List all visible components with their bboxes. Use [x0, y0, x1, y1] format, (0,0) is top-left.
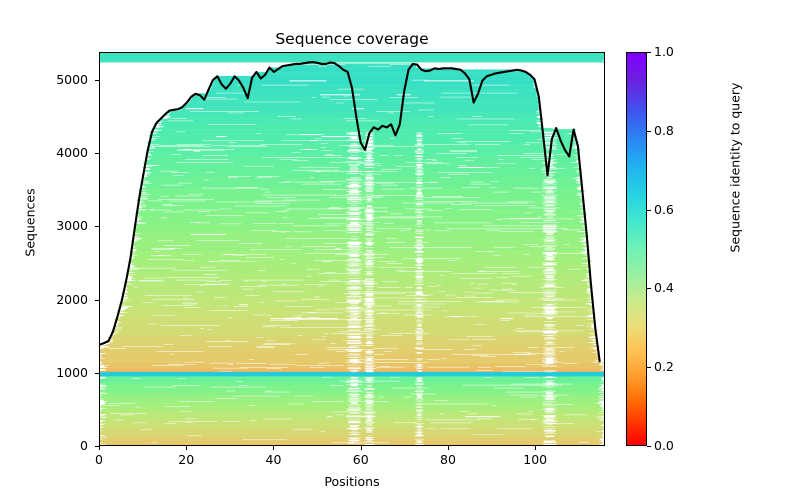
- colorbar: [626, 52, 647, 446]
- y-tick-label: 5000: [0, 72, 88, 87]
- x-tick: [448, 446, 449, 450]
- x-axis-label: Positions: [99, 474, 605, 489]
- y-tick: [95, 300, 99, 301]
- colorbar-tick-label: 0.2: [654, 359, 674, 374]
- y-tick-label: 0: [0, 438, 88, 453]
- colorbar-tick: [647, 367, 651, 368]
- y-tick-label: 1000: [0, 365, 88, 380]
- heatmap-axes: [99, 52, 605, 446]
- colorbar-tick: [647, 288, 651, 289]
- colorbar-tick-label: 1.0: [654, 44, 674, 59]
- x-tick-label: 40: [243, 452, 303, 467]
- colorbar-tick: [647, 210, 651, 211]
- colorbar-tick-label: 0.0: [654, 438, 674, 453]
- y-tick: [95, 153, 99, 154]
- x-tick-label: 60: [331, 452, 391, 467]
- y-tick: [95, 373, 99, 374]
- colorbar-tick: [647, 446, 651, 447]
- y-tick-label: 2000: [0, 292, 88, 307]
- y-tick-label: 4000: [0, 145, 88, 160]
- colorbar-tick: [647, 131, 651, 132]
- y-tick: [95, 446, 99, 447]
- x-tick-label: 20: [156, 452, 216, 467]
- x-tick: [535, 446, 536, 450]
- x-tick-label: 0: [69, 452, 129, 467]
- x-tick: [186, 446, 187, 450]
- y-tick: [95, 226, 99, 227]
- colorbar-tick: [647, 52, 651, 53]
- y-tick-label: 3000: [0, 218, 88, 233]
- x-tick: [273, 446, 274, 450]
- coverage-curve: [100, 53, 604, 445]
- x-tick: [361, 446, 362, 450]
- colorbar-label: Sequence identity to query: [728, 18, 743, 318]
- colorbar-tick-label: 0.8: [654, 123, 674, 138]
- x-tick-label: 80: [418, 452, 478, 467]
- colorbar-tick-label: 0.4: [654, 280, 674, 295]
- x-tick: [99, 446, 100, 450]
- y-tick: [95, 80, 99, 81]
- x-tick-label: 100: [505, 452, 565, 467]
- colorbar-tick-label: 0.6: [654, 202, 674, 217]
- page-title: Sequence coverage: [99, 30, 605, 48]
